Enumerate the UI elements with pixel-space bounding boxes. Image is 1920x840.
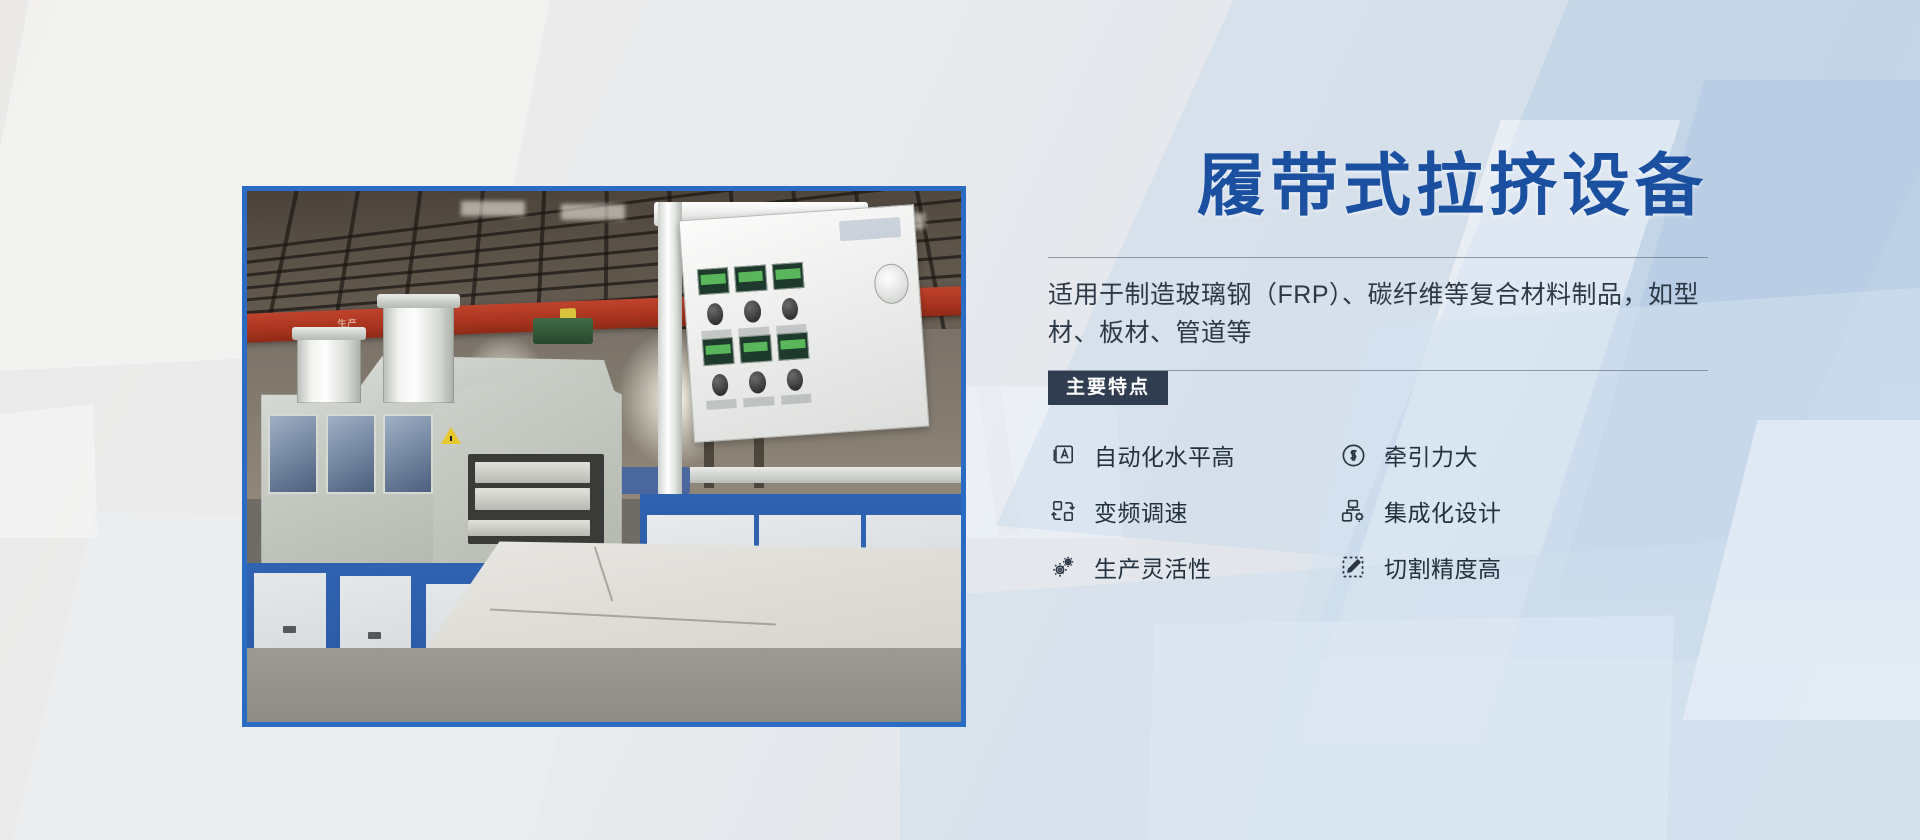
crane-hoist xyxy=(533,318,593,344)
feature-list: 自动化水平高牵引力大变频调速集成化设计生产灵活性切割精度高 xyxy=(1048,438,1708,584)
feature-item: 自动化水平高 xyxy=(1048,438,1338,472)
feature-label: 切割精度高 xyxy=(1384,550,1502,584)
precision-cut-icon xyxy=(1338,552,1368,582)
integration-icon xyxy=(1338,496,1368,526)
feature-item: 牵引力大 xyxy=(1338,438,1628,472)
factory-floor xyxy=(247,648,961,722)
product-subtitle: 适用于制造玻璃钢（FRP）、碳纤维等复合材料制品，如型材、板材、管道等 xyxy=(1048,276,1708,352)
status-badge: 主要特点 xyxy=(1048,371,1168,405)
feature-item: 变频调速 xyxy=(1048,494,1338,528)
feature-item: 集成化设计 xyxy=(1338,494,1628,528)
warning-triangle-icon xyxy=(441,427,461,444)
product-banner: 生产 xyxy=(0,0,1920,840)
title-divider xyxy=(1048,257,1708,258)
automation-icon xyxy=(1048,440,1078,470)
banner-content: 履带式拉挤设备 适用于制造玻璃钢（FRP）、碳纤维等复合材料制品，如型材、板材、… xyxy=(1048,150,1708,584)
control-panel xyxy=(679,204,930,443)
feature-item: 切割精度高 xyxy=(1338,550,1628,584)
feature-label: 集成化设计 xyxy=(1384,494,1502,528)
feature-label: 生产灵活性 xyxy=(1094,550,1212,584)
frequency-icon xyxy=(1048,496,1078,526)
feature-label: 牵引力大 xyxy=(1384,438,1478,472)
traction-icon xyxy=(1338,440,1368,470)
pultrusion-machine-photo: 生产 xyxy=(247,191,961,722)
feature-label: 自动化水平高 xyxy=(1094,438,1235,472)
page-title: 履带式拉挤设备 xyxy=(1048,150,1708,223)
gears-icon xyxy=(1048,552,1078,582)
features-header: 主要特点 xyxy=(1048,370,1708,404)
feature-label: 变频调速 xyxy=(1094,494,1188,528)
feature-item: 生产灵活性 xyxy=(1048,550,1338,584)
product-photo-frame: 生产 xyxy=(242,186,966,727)
